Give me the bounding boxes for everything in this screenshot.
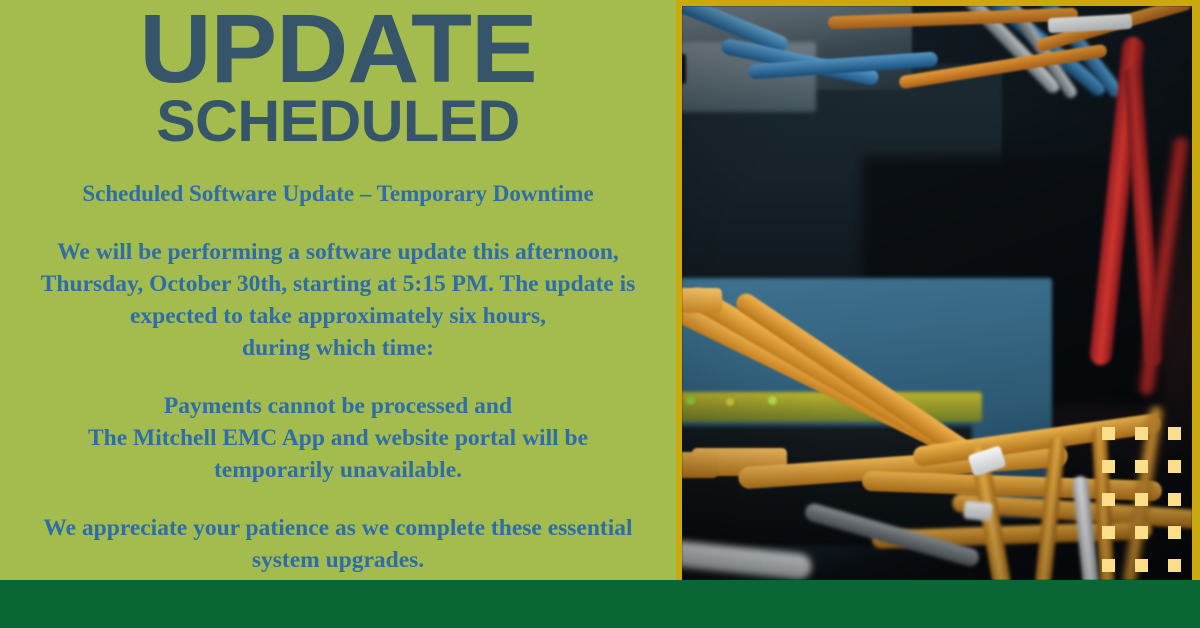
body-paragraph-1: We will be performing a software update … (8, 236, 668, 364)
dot-grid-square (1102, 559, 1115, 572)
ethernet-plug-upper-1 (682, 288, 722, 313)
body-line: temporarily unavailable. (8, 454, 668, 486)
dot-grid-square (1168, 526, 1181, 539)
dot-grid-square (1102, 526, 1115, 539)
announcement-graphic: UPDATE SCHEDULED Scheduled Software Upda… (0, 0, 1200, 628)
dot-grid-square (1135, 559, 1148, 572)
dot-grid-square (1168, 460, 1181, 473)
body-line: expected to take approximately six hours… (8, 300, 668, 332)
ethernet-plug-lower-2 (682, 452, 718, 478)
left-content-panel: UPDATE SCHEDULED Scheduled Software Upda… (0, 0, 676, 580)
body-line: Thursday, October 30th, starting at 5:15… (8, 268, 668, 300)
body-copy: Scheduled Software Update – Temporary Do… (8, 178, 668, 576)
body-lead-line: Scheduled Software Update – Temporary Do… (8, 178, 668, 210)
dot-grid-square (1168, 427, 1181, 440)
paragraph-spacer (8, 486, 668, 512)
dot-grid-square (1102, 493, 1115, 506)
footer-bar (0, 580, 1200, 628)
dot-grid-square (1168, 559, 1181, 572)
dot-grid-square (1135, 460, 1148, 473)
white-cable-sleeve (1048, 14, 1133, 33)
headline-secondary: SCHEDULED (0, 94, 676, 149)
body-line: We appreciate your patience as we comple… (8, 512, 668, 544)
dot-grid-square (1135, 493, 1148, 506)
body-line: We will be performing a software update … (8, 236, 668, 268)
headline-block: UPDATE SCHEDULED (0, 0, 676, 149)
dot-grid-square (1102, 460, 1115, 473)
body-paragraph-3: We appreciate your patience as we comple… (8, 512, 668, 576)
dot-grid-square (1168, 493, 1181, 506)
dot-grid-square (1102, 427, 1115, 440)
body-line: system upgrades. (8, 544, 668, 576)
faceplate-port (682, 54, 686, 84)
headline-primary: UPDATE (0, 4, 676, 94)
dot-grid-square (1135, 427, 1148, 440)
body-lead-paragraph: Scheduled Software Update – Temporary Do… (8, 178, 668, 210)
body-paragraph-2: Payments cannot be processed and The Mit… (8, 390, 668, 486)
dot-grid-square (1135, 526, 1148, 539)
white-cable-tie-2 (963, 501, 993, 522)
paragraph-spacer (8, 210, 668, 236)
body-line: during which time: (8, 332, 668, 364)
switch-led-green-1 (686, 396, 695, 405)
body-line: Payments cannot be processed and (8, 390, 668, 422)
paragraph-spacer (8, 364, 668, 390)
switch-led-amber (726, 398, 734, 406)
body-line: The Mitchell EMC App and website portal … (8, 422, 668, 454)
switch-led-green-2 (768, 396, 777, 405)
